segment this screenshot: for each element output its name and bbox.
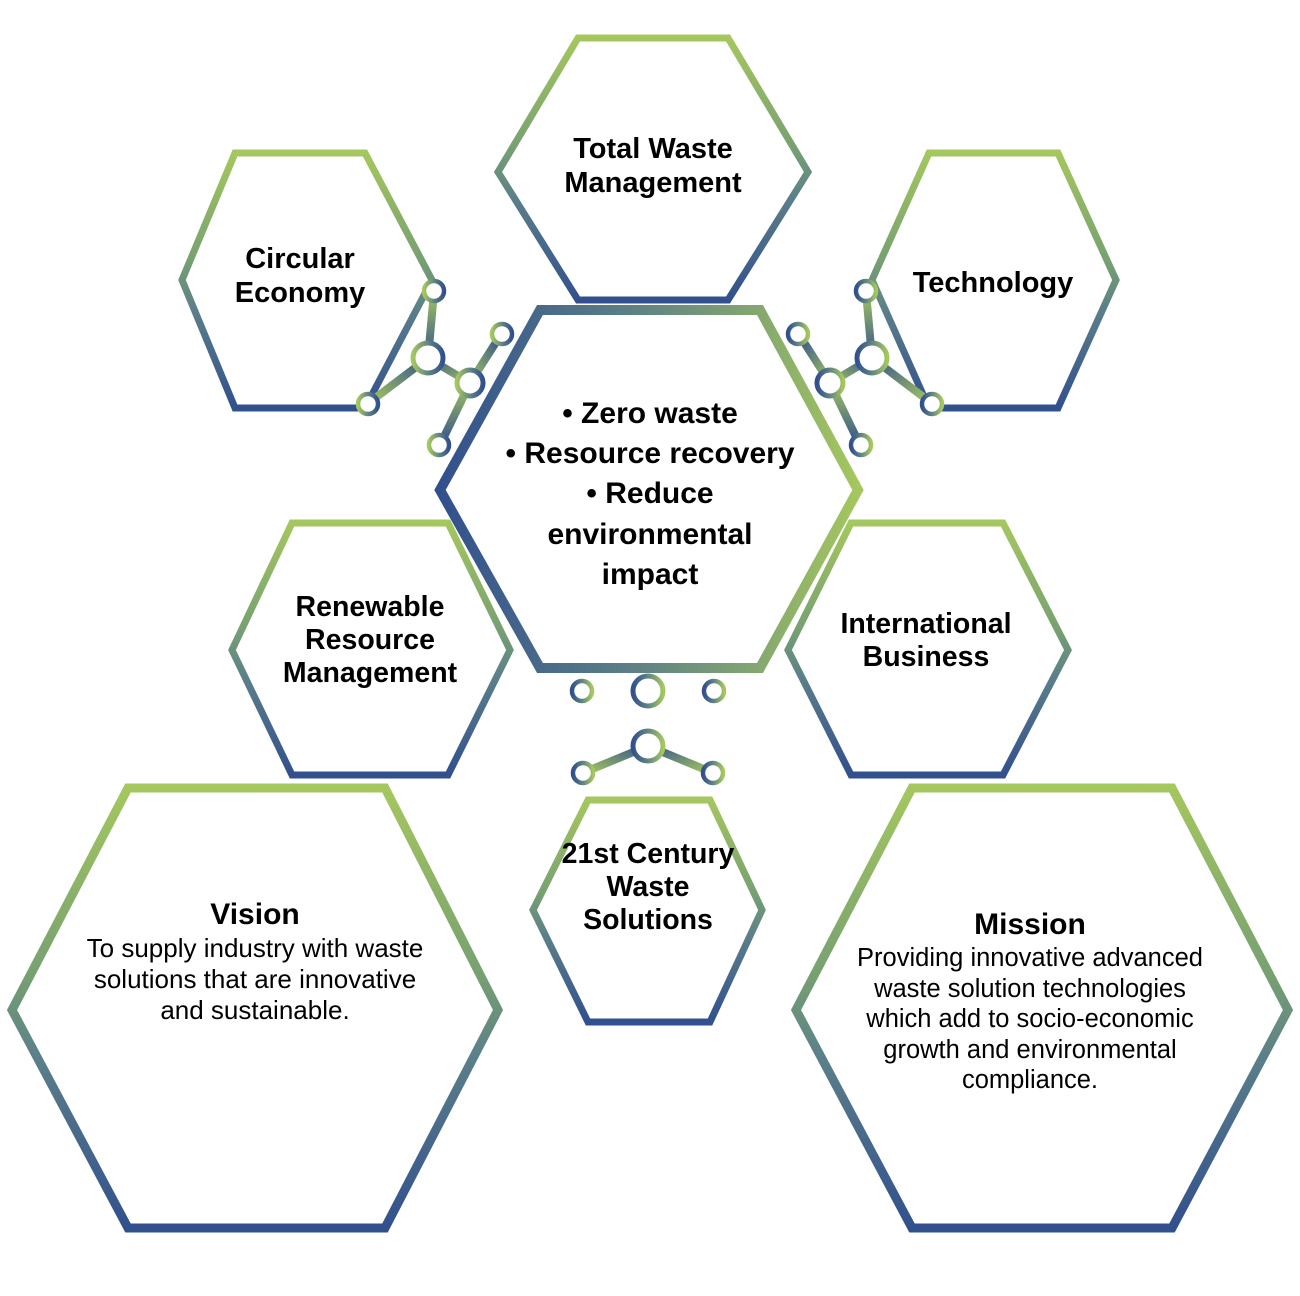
hexagon-diagram-svg — [0, 0, 1300, 1296]
hexagon-circular-economy[interactable] — [182, 153, 432, 408]
connector-left-node-a — [424, 281, 444, 301]
hexagon-shape-total-waste-management — [498, 38, 808, 300]
hexagon-shape-renewable-resource-management — [232, 523, 510, 775]
connector-right-node-a — [856, 281, 876, 301]
mission-block: Mission Providing innovative advanced wa… — [810, 907, 1250, 1096]
mission-heading: Mission — [810, 907, 1250, 943]
vision-block: Vision To supply industry with waste sol… — [40, 897, 470, 1027]
connector-bottom — [572, 676, 724, 783]
connector-right-node-d — [851, 435, 871, 455]
hexagon-international-business[interactable] — [788, 523, 1068, 775]
hexagon-center[interactable] — [440, 310, 858, 668]
hexagon-shape-international-business — [788, 523, 1068, 775]
connector-bottom-node-d — [703, 763, 723, 783]
hexagon-shape-center — [440, 310, 858, 668]
vision-body: To supply industry with waste solutions … — [40, 933, 470, 1027]
connector-bottom-node-c — [573, 763, 593, 783]
connector-right-node-b — [922, 394, 942, 414]
hexagon-shape-21st-century-waste-solutions — [533, 800, 762, 1022]
vision-heading: Vision — [40, 897, 470, 933]
hexagon-21st-century-waste-solutions[interactable] — [533, 800, 762, 1022]
connector-left-node-hub-1 — [413, 343, 443, 373]
connector-left-node-d — [429, 435, 449, 455]
diagram-canvas: Total Waste Management Circular Economy … — [0, 0, 1300, 1296]
hexagon-renewable-resource-management[interactable] — [232, 523, 510, 775]
connector-bottom-node-hub-1 — [633, 676, 663, 706]
connector-bottom-node-a — [572, 681, 592, 701]
connector-right-node-hub-2 — [817, 370, 843, 396]
connector-left-node-b — [358, 394, 378, 414]
hexagon-shape-technology — [872, 153, 1116, 408]
hexagon-shape-circular-economy — [182, 153, 432, 408]
connector-right-node-c — [788, 324, 808, 344]
hexagon-total-waste-management[interactable] — [498, 38, 808, 300]
connector-bottom-node-hub-2 — [633, 731, 663, 761]
hexagon-technology[interactable] — [872, 153, 1116, 408]
connector-left-node-c — [492, 324, 512, 344]
connector-bottom-node-b — [704, 681, 724, 701]
mission-body: Providing innovative advanced waste solu… — [810, 943, 1250, 1096]
connector-right-node-hub-1 — [857, 343, 887, 373]
connector-left-node-hub-2 — [457, 370, 483, 396]
